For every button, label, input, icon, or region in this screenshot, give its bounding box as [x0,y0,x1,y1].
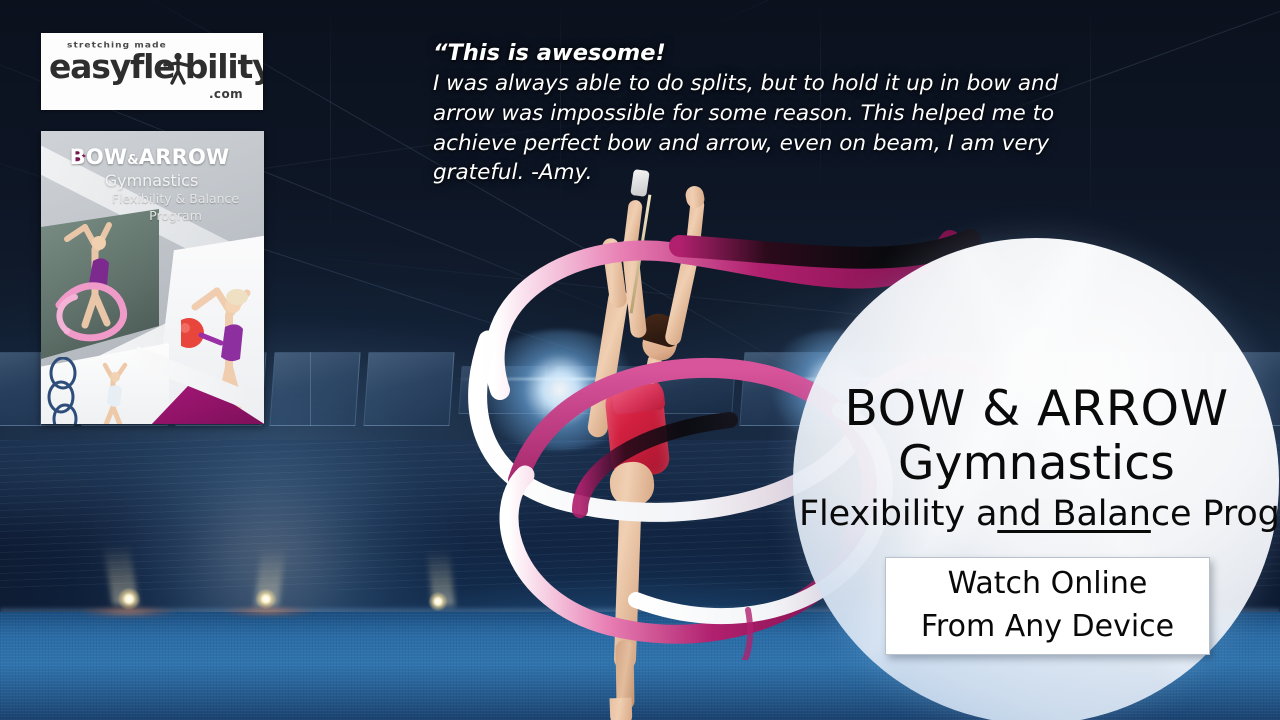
flex-figure-icon [163,52,191,86]
dvd-title-amp: & [127,153,139,168]
promo-text-group: BOW & ARROW Gymnastics Flexibility and B… [793,238,1280,720]
dvd-title: BOW&ARROW [41,145,258,169]
dvd-tagline: Flexibility & Balance Program [93,191,258,225]
cta-line-2: From Any Device [921,606,1174,649]
testimonial-body: I was always able to do splits, but to h… [433,69,1123,188]
cta-line-1: Watch Online [948,563,1148,606]
easyflexibility-logo[interactable]: stretching made easyfle bility .com [41,33,263,110]
testimonial-headline: “This is awesome! [433,38,1123,69]
dvd-tagline-line2: Program [93,208,258,225]
logo-wordmark: easyfle bility [49,47,255,86]
testimonial-quote: “This is awesome! I was always able to d… [433,38,1123,188]
dvd-tagline-line1: Flexibility & Balance [93,191,258,208]
promo-tagline-pre: Flexibility a [799,494,997,534]
promo-tagline: Flexibility and Balance Program [799,494,1280,534]
dvd-cover-thumbnail[interactable]: BOW&ARROW Gymnastics Flexibility & Balan… [41,131,264,424]
floor-glow-2 [222,606,314,617]
dvd-title-word2: ARROW [139,145,230,169]
watch-online-cta[interactable]: Watch Online From Any Device [885,557,1210,655]
promo-tagline-underlined: nd Balan [997,494,1151,534]
logo-domain: .com [209,87,243,101]
promo-subtitle: Gymnastics [793,436,1280,491]
promo-title: BOW & ARROW [793,380,1280,437]
dvd-gymnast-left [45,213,161,363]
dvd-subtitle: Gymnastics [41,171,262,190]
promotional-slide: BOW & ARROW Gymnastics Flexibility and B… [0,0,1280,720]
promo-tagline-post: ce Program [1151,494,1280,534]
floor-glow-1 [80,606,176,618]
dvd-title-word1: BOW [70,145,128,169]
